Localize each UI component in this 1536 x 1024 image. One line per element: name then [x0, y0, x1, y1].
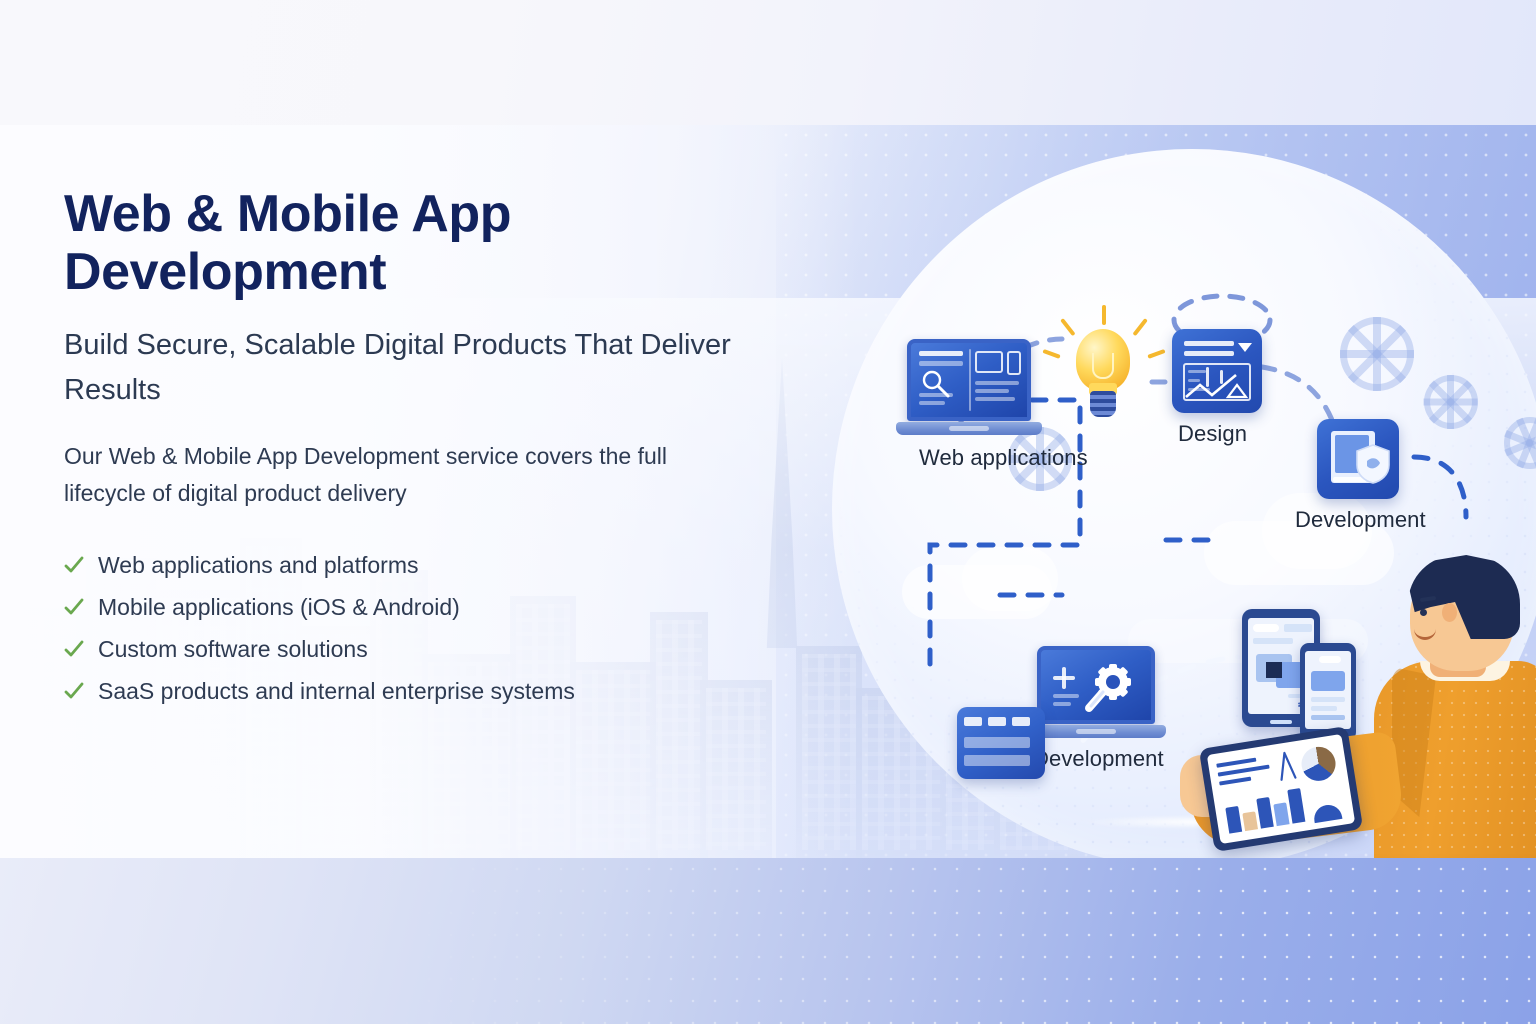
hero-banner: Design Development — [0, 125, 1536, 858]
list-item: SaaS products and internal enterprise sy… — [64, 670, 754, 712]
development-shield-label: Development — [1295, 507, 1426, 533]
check-icon — [64, 555, 84, 575]
feature-list: Web applications and platforms Mobile ap… — [64, 544, 754, 712]
list-item-label: SaaS products and internal enterprise sy… — [98, 680, 575, 703]
list-item-label: Web applications and platforms — [98, 554, 418, 577]
lightbulb-idea-icon — [1062, 317, 1144, 423]
dot-texture — [0, 858, 1536, 1024]
development-laptop-icon — [1037, 646, 1155, 738]
page-title: Web & Mobile App Development — [64, 185, 754, 301]
list-item-label: Custom software solutions — [98, 638, 368, 661]
check-icon — [64, 597, 84, 617]
mobile-devices-icon: ✂ — [1242, 609, 1362, 745]
description-paragraph: Our Web & Mobile App Development service… — [64, 438, 754, 513]
bottom-decorative-band — [0, 858, 1536, 1024]
subheading: Build Secure, Scalable Digital Products … — [64, 323, 754, 411]
secure-development-icon — [1317, 419, 1399, 499]
development-laptop-label: Development — [1033, 746, 1164, 772]
specialist-person-illustration — [1368, 543, 1536, 858]
list-item: Web applications and platforms — [64, 544, 754, 586]
check-icon — [64, 639, 84, 659]
copy-column: Web & Mobile App Development Build Secur… — [64, 185, 754, 712]
web-applications-label: Web applications — [919, 443, 1088, 472]
banner-stage: Design Development — [0, 0, 1536, 1024]
design-node: Design — [1172, 329, 1262, 413]
data-card-icon — [957, 707, 1045, 779]
web-application-laptop-icon — [907, 339, 1031, 435]
design-icon — [1172, 329, 1262, 413]
development-shield-node: Development — [1317, 419, 1399, 499]
list-item: Mobile applications (iOS & Android) — [64, 586, 754, 628]
design-label: Design — [1178, 421, 1247, 447]
list-item: Custom software solutions — [64, 628, 754, 670]
check-icon — [64, 681, 84, 701]
top-decorative-band — [0, 0, 1536, 125]
list-item-label: Mobile applications (iOS & Android) — [98, 596, 460, 619]
